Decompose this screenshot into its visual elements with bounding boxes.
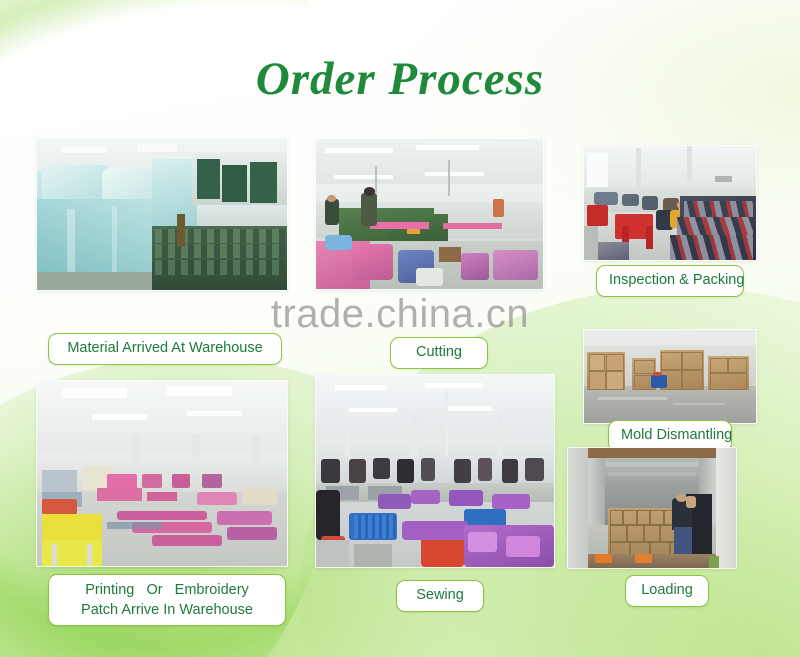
step-label-inspection-packing: Inspection & Packing <box>596 265 744 297</box>
label-line-2: Patch Arrive In Warehouse <box>81 602 253 618</box>
page-title: Order Process <box>0 52 800 106</box>
photo-cutting <box>316 139 543 289</box>
photo-mold-dismantling <box>584 330 756 423</box>
photo-sewing <box>316 375 554 567</box>
step-label-printing-embroidery: Printing Or EmbroideryPatch Arrive In Wa… <box>48 574 286 626</box>
step-label-sewing: Sewing <box>396 580 484 612</box>
photo-inspection-packing <box>584 146 756 260</box>
label-line-1: Printing Or Embroidery <box>85 582 249 598</box>
step-label-material-arrived: Material Arrived At Warehouse <box>48 333 282 365</box>
step-label-cutting: Cutting <box>390 337 488 369</box>
order-process-poster: Order Process Material Arrived At Ware <box>0 0 800 657</box>
photo-printing-embroidery <box>37 381 287 566</box>
step-label-loading: Loading <box>625 575 709 607</box>
photo-loading <box>568 448 736 568</box>
photo-material-arrived <box>37 138 287 290</box>
